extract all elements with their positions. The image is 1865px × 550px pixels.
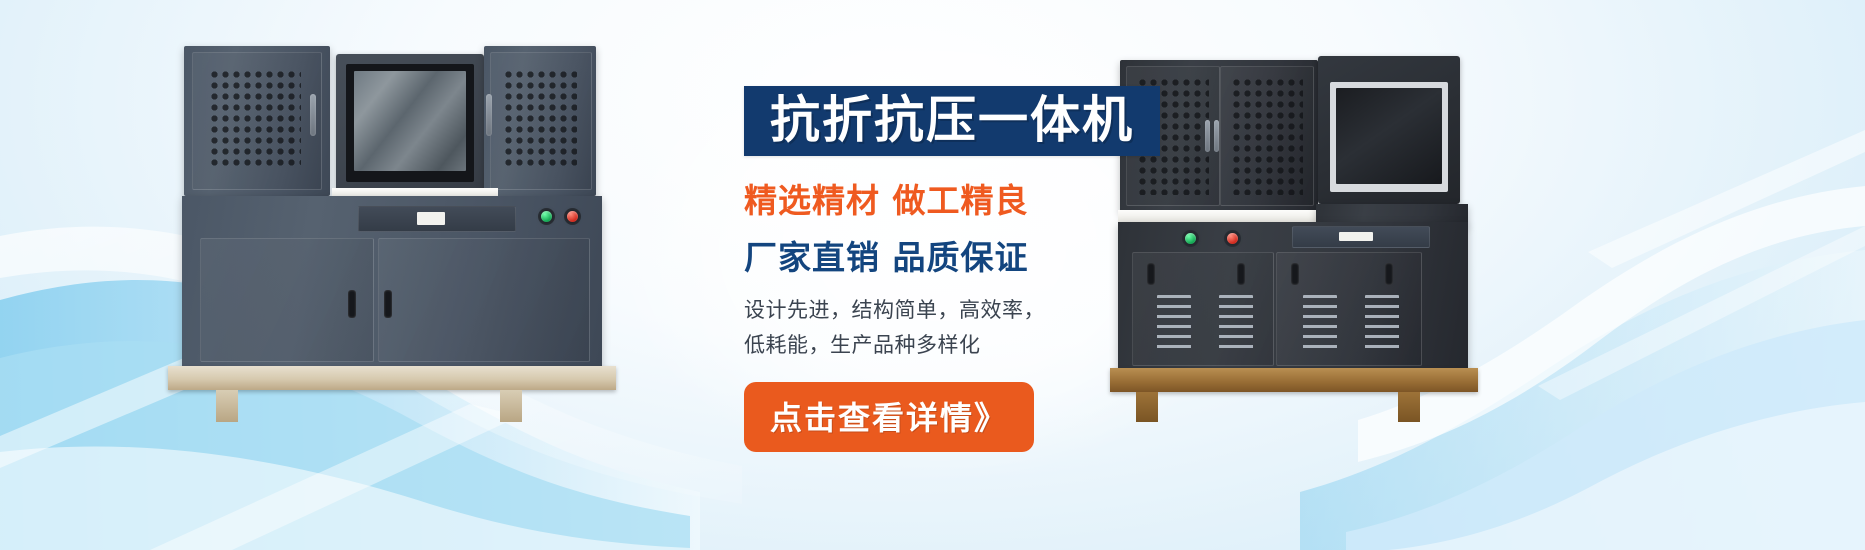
drawer-label-tag [1339, 232, 1373, 241]
shipping-pallet [168, 366, 616, 390]
vented-door-right [1276, 252, 1422, 366]
banner-copy: 抗折抗压一体机 精选精材 做工精良 厂家直销 品质保证 设计先进，结构简单，高效… [744, 86, 1284, 452]
right-upper-door-handle [486, 94, 492, 136]
lower-door-left-handle [348, 290, 356, 318]
red-indicator-light [567, 211, 578, 222]
pallet-leg [1398, 392, 1420, 422]
description-line-1: 设计先进，结构简单，高效率， [744, 293, 1284, 328]
drawer-panel [1292, 226, 1430, 248]
perforation-pattern [503, 69, 577, 169]
subtitle-blue: 厂家直销 品质保证 [744, 231, 1284, 279]
left-upper-door-handle [310, 94, 316, 136]
subtitle-orange: 精选精材 做工精良 [744, 174, 1284, 222]
left-machine-photo [160, 38, 600, 428]
control-panel-slot [358, 206, 516, 232]
left-upper-door [192, 52, 322, 190]
vented-door-right-handle-2 [1385, 263, 1393, 285]
ventilation-louvers [1303, 295, 1337, 353]
right-upper-door [490, 52, 592, 190]
pallet-leg [500, 390, 522, 422]
green-indicator-light [541, 211, 552, 222]
perforation-pattern [209, 69, 301, 169]
lower-door-right [378, 238, 590, 362]
description-line-2: 低耗能，生产品种多样化 [744, 328, 1284, 363]
title-band: 抗折抗压一体机 [744, 86, 1160, 156]
pallet-leg [216, 390, 238, 422]
monitor-screen [354, 71, 466, 171]
vented-door-right-handle [1291, 263, 1299, 285]
promo-banner: 抗折抗压一体机 精选精材 做工精良 厂家直销 品质保证 设计先进，结构简单，高效… [0, 0, 1865, 550]
panel-label-tag [417, 212, 445, 225]
ventilation-louvers [1365, 295, 1399, 353]
lower-door-right-handle [384, 290, 392, 318]
view-details-button[interactable]: 点击查看详情》 [744, 382, 1034, 452]
monitor-screen [1336, 88, 1442, 184]
page-title: 抗折抗压一体机 [770, 95, 1134, 145]
